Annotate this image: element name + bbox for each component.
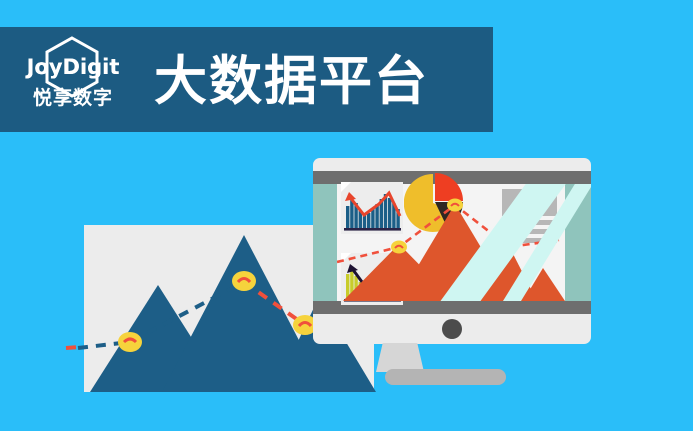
monitor-stand-base <box>385 369 506 385</box>
trend-node <box>501 241 517 254</box>
power-button-icon[interactable] <box>442 319 462 339</box>
screen-side-panel-left <box>313 184 337 301</box>
trend-node <box>391 241 407 254</box>
screen-mountain-chart <box>337 196 565 301</box>
screen-side-panel-right <box>565 184 591 301</box>
poster-canvas: JoyDigit 悦享数字 大数据平台 <box>0 0 693 431</box>
logo-subtitle: 悦享数字 <box>33 89 113 108</box>
trend-node <box>232 271 256 291</box>
monitor-stand-neck <box>376 343 424 372</box>
page-title: 大数据平台 <box>154 55 429 108</box>
trend-node <box>447 199 463 212</box>
header-banner: JoyDigit 悦享数字 大数据平台 <box>0 27 493 132</box>
brand-logo: JoyDigit 悦享数字 <box>14 34 132 126</box>
logo-wordmark: JoyDigit <box>27 57 120 78</box>
trend-node <box>118 332 142 352</box>
